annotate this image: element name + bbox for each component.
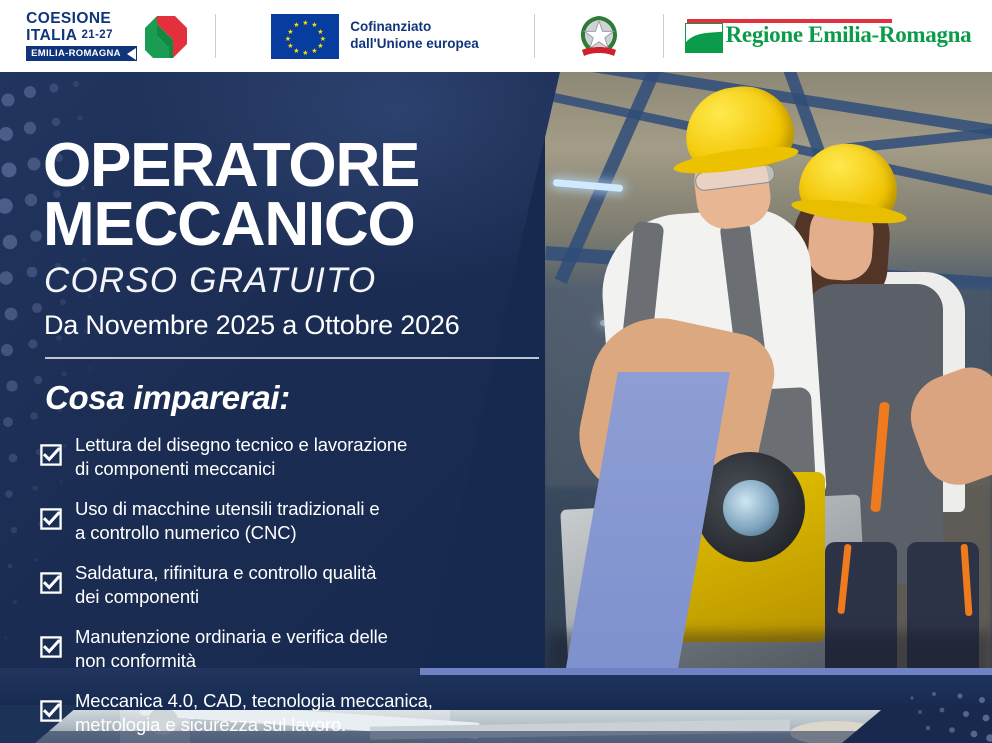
coesione-line-2: ITALIA [26,27,77,44]
list-item-line-1: Manutenzione ordinaria e verifica delle [75,626,388,647]
list-item-text: Meccanica 4.0, CAD, tecnologia meccanica… [75,686,433,737]
eu-flag-icon: ★ ★ ★ ★ ★ ★ ★ ★ ★ ★ ★ ★ [271,14,339,59]
funding-logo-bar: COESIONE ITALIA 21-27 EMILIA-ROMAGNA [0,0,992,72]
section-heading: Cosa imparerai: [45,381,290,414]
coesione-chevron-mark [143,14,189,58]
checkbox-checked-icon [40,444,62,466]
regione-name: Regione Emilia-Romagna [726,23,972,53]
list-item-text: Uso di macchine utensili tradizionali e … [75,494,380,545]
checkbox-checked-icon [40,572,62,594]
list-item-line-2: dei componenti [75,586,199,607]
divider [45,357,539,359]
list-item-line-1: Lettura del disegno tecnico e lavorazion… [75,434,407,455]
title-line-2: MECCANICO [43,195,563,255]
poster-root: OPERATORE MECCANICO CORSO GRATUITO Da No… [0,0,992,743]
checkbox-checked-icon [40,636,62,658]
page-title: OPERATORE MECCANICO [43,136,563,255]
coesione-region-label: EMILIA-ROMAGNA [31,48,121,59]
list-item-text: Lettura del disegno tecnico e lavorazion… [75,430,407,481]
coesione-region-badge: EMILIA-ROMAGNA [26,46,137,61]
coesione-years: 21-27 [81,29,112,41]
learning-outcomes-list: Lettura del disegno tecnico e lavorazion… [40,430,550,743]
list-item-text: Manutenzione ordinaria e verifica delle … [75,622,388,673]
list-item-line-2: metrologia e sicurezza sul lavoro. [75,714,346,735]
list-item-line-2: a controllo numerico (CNC) [75,522,297,543]
logo-cofinanziato-ue: ★ ★ ★ ★ ★ ★ ★ ★ ★ ★ ★ ★ Cofinanziato dal… [216,0,534,72]
list-item-line-2: non conformità [75,650,196,671]
list-item: Manutenzione ordinaria e verifica delle … [40,622,550,673]
checkbox-checked-icon [40,700,62,722]
list-item: Meccanica 4.0, CAD, tecnologia meccanica… [40,686,550,737]
coesione-line-1: COESIONE [26,11,137,27]
machine-metal-ring [723,480,779,536]
eu-text-line-1: Cofinanziato [350,19,478,36]
list-item-line-1: Meccanica 4.0, CAD, tecnologia meccanica… [75,690,433,711]
logo-repubblica-italiana [535,0,663,72]
date-range: Da Novembre 2025 a Ottobre 2026 [44,312,460,339]
list-item-line-2: di componenti meccanici [75,458,275,479]
list-item: Uso di macchine utensili tradizionali e … [40,494,550,545]
checkbox-checked-icon [40,508,62,530]
list-item: Lettura del disegno tecnico e lavorazion… [40,430,550,481]
poster-content: OPERATORE MECCANICO CORSO GRATUITO Da No… [0,72,560,743]
regione-wave-icon [685,23,723,53]
subtitle: CORSO GRATUITO [44,263,376,298]
list-item-text: Saldatura, rifinitura e controllo qualit… [75,558,376,609]
list-item-line-1: Uso di macchine utensili tradizionali e [75,498,380,519]
logo-coesione-italia: COESIONE ITALIA 21-27 EMILIA-ROMAGNA [0,0,215,72]
list-item: Saldatura, rifinitura e controllo qualit… [40,558,550,609]
arrow-left-icon [127,48,136,60]
repubblica-italiana-emblem-icon [576,10,622,62]
eu-text-line-2: dall'Unione europea [350,36,478,53]
list-item-line-1: Saldatura, rifinitura e controllo qualit… [75,562,376,583]
logo-regione-emilia-romagna: Regione Emilia-Romagna [664,0,992,72]
